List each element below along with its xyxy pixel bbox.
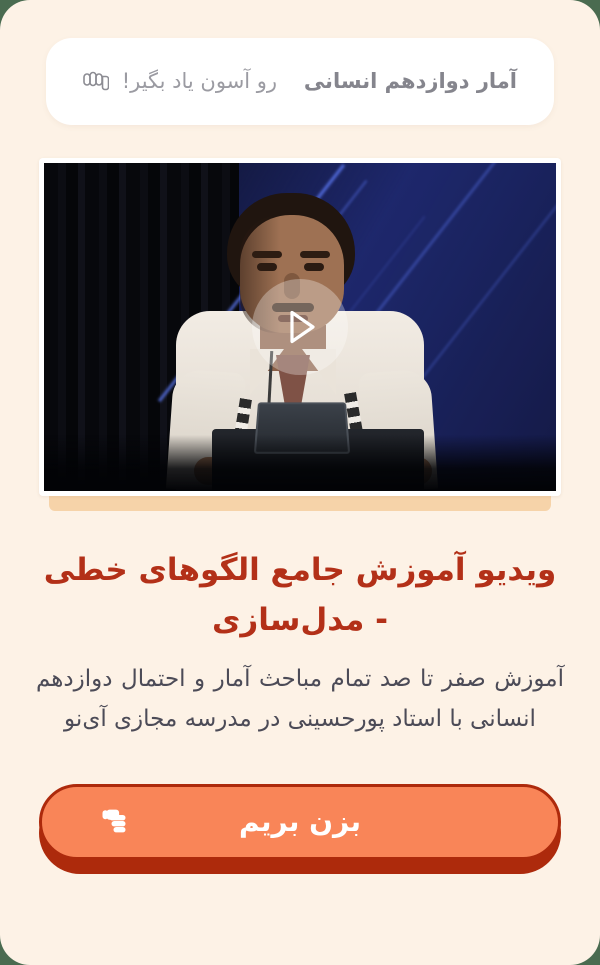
cta-button-label: بزن بریم (70, 805, 530, 838)
bottom-vignette (44, 435, 556, 491)
video-thumbnail-wrapper[interactable] (39, 158, 561, 496)
cta-wrapper: بزن بریم (39, 784, 561, 874)
play-icon (277, 304, 323, 350)
headline-banner-text: آمار دوازدهم انسانی رو آسون یاد بگیر! (83, 66, 517, 98)
promo-card: آمار دوازدهم انسانی رو آسون یاد بگیر! (0, 0, 600, 965)
play-button[interactable] (252, 279, 348, 375)
pointing-hand-icon (100, 807, 134, 837)
page-title: ویدیو آموزش جامع الگوهای خطی - مدل‌سازی (40, 546, 560, 645)
pointing-hand-icon (83, 70, 109, 92)
headline-banner: آمار دوازدهم انسانی رو آسون یاد بگیر! (46, 38, 554, 125)
headline-light: رو آسون یاد بگیر! (122, 69, 277, 93)
start-course-button[interactable]: بزن بریم (39, 784, 561, 860)
video-preview-image[interactable] (44, 163, 556, 491)
headline-strong: آمار دوازدهم انسانی (304, 69, 517, 93)
description-text: آموزش صفر تا صد تمام مباحث آمار و احتمال… (36, 659, 564, 740)
video-frame (39, 158, 561, 496)
